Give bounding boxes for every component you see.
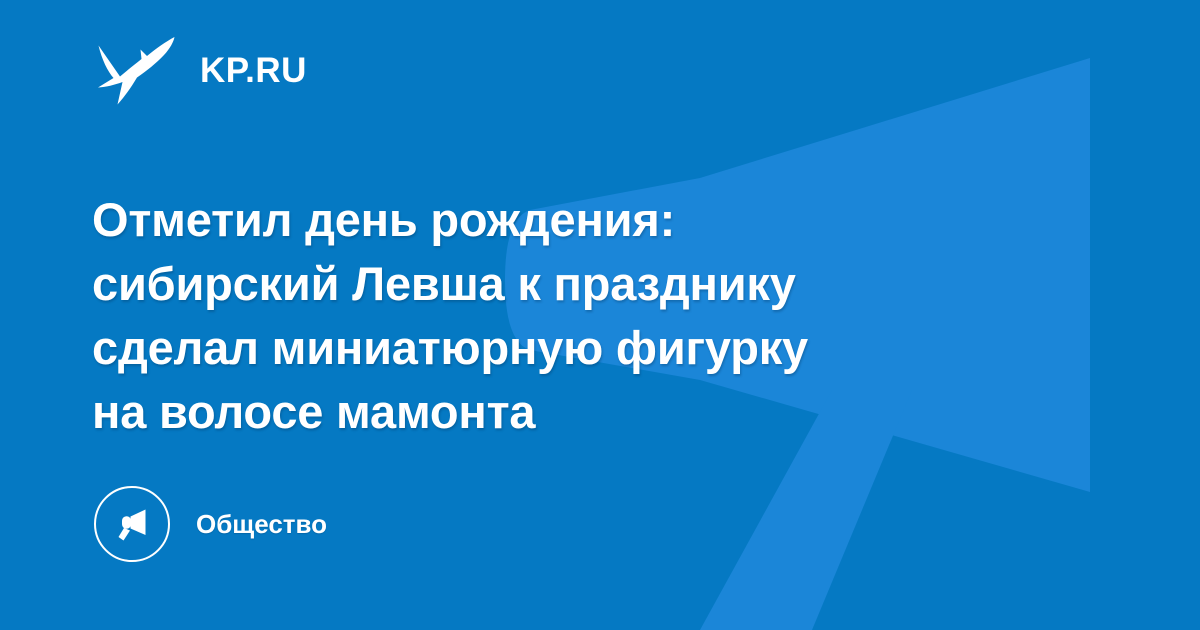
swallow-bird-icon [96,35,178,105]
megaphone-icon [112,504,152,544]
category-icon-ring [94,486,170,562]
headline-line-4: на волосе мамонта [92,380,992,444]
headline-line-1: Отметил день рождения: [92,188,992,252]
headline-line-2: сибирский Левша к празднику [92,252,992,316]
site-header: KP.RU [96,34,307,106]
brand-name: KP.RU [200,53,307,88]
category-label: Общество [196,511,327,537]
headline: Отметил день рождения: сибирский Левша к… [92,188,992,444]
share-card: KP.RU Отметил день рождения: сибирский Л… [0,0,1200,630]
headline-line-3: сделал миниатюрную фигурку [92,316,992,380]
category-badge[interactable]: Общество [94,484,327,564]
